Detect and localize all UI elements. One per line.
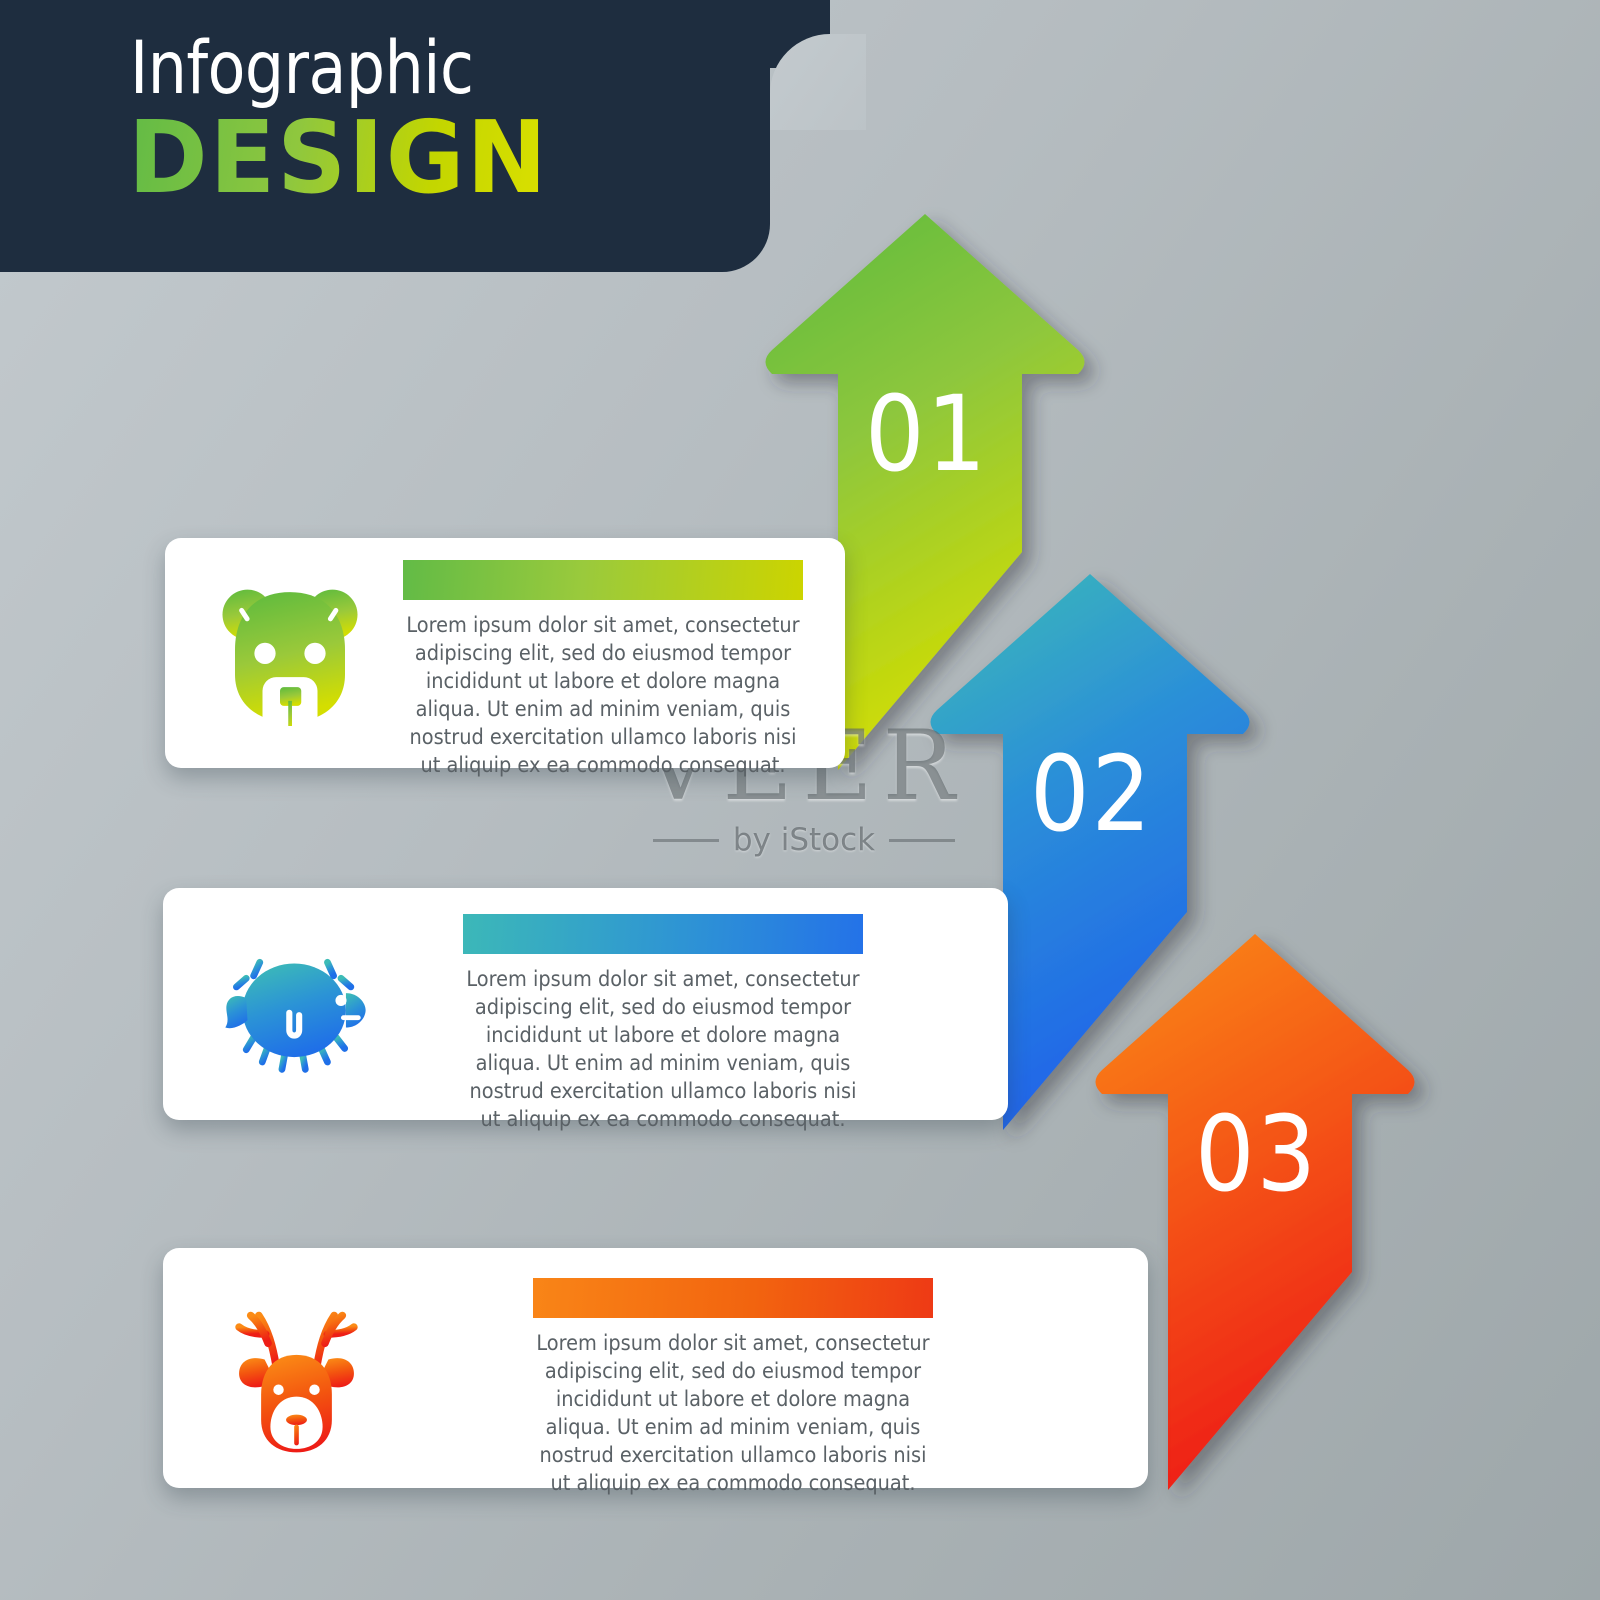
step-card-03[interactable]: Lorem ipsum Lorem ipsum dolor sit amet, … (163, 1248, 1148, 1488)
pufferfish-icon-svg (213, 929, 373, 1083)
watermark-by-text: by iStock (733, 822, 875, 858)
deer-head-icon (211, 1282, 381, 1457)
header-title-line2: DESIGN (128, 108, 549, 208)
step-card-01-title: Lorem ipsum (403, 560, 803, 600)
step-card-02[interactable]: Lorem ipsum Lorem ipsum dolor sit amet, … (163, 888, 1008, 1120)
step-card-02-body: Lorem ipsum dolor sit amet, consectetur … (463, 966, 863, 1134)
pufferfish-icon (203, 926, 383, 1086)
bear-head-icon (205, 576, 375, 731)
step-card-02-text: Lorem ipsum Lorem ipsum dolor sit amet, … (463, 914, 863, 1134)
watermark-rule-left (653, 839, 719, 842)
step-card-02-title: Lorem ipsum (463, 914, 863, 954)
infographic-canvas: Infographic DESIGN 03 (0, 0, 1600, 1600)
deer-head-icon-svg (224, 1283, 369, 1457)
step-card-01[interactable]: Lorem ipsum Lorem ipsum dolor sit amet, … (165, 538, 845, 768)
step-card-03-title: Lorem ipsum (533, 1278, 933, 1318)
step-card-03-text: Lorem ipsum Lorem ipsum dolor sit amet, … (533, 1278, 933, 1498)
header-title-line1: Infographic (130, 32, 473, 105)
bear-head-icon-svg (215, 582, 365, 726)
step-card-01-body: Lorem ipsum dolor sit amet, consectetur … (403, 612, 803, 780)
step-card-01-text: Lorem ipsum Lorem ipsum dolor sit amet, … (403, 560, 803, 780)
step-card-03-body: Lorem ipsum dolor sit amet, consectetur … (533, 1330, 933, 1498)
step-number-01: 01 (865, 382, 988, 486)
